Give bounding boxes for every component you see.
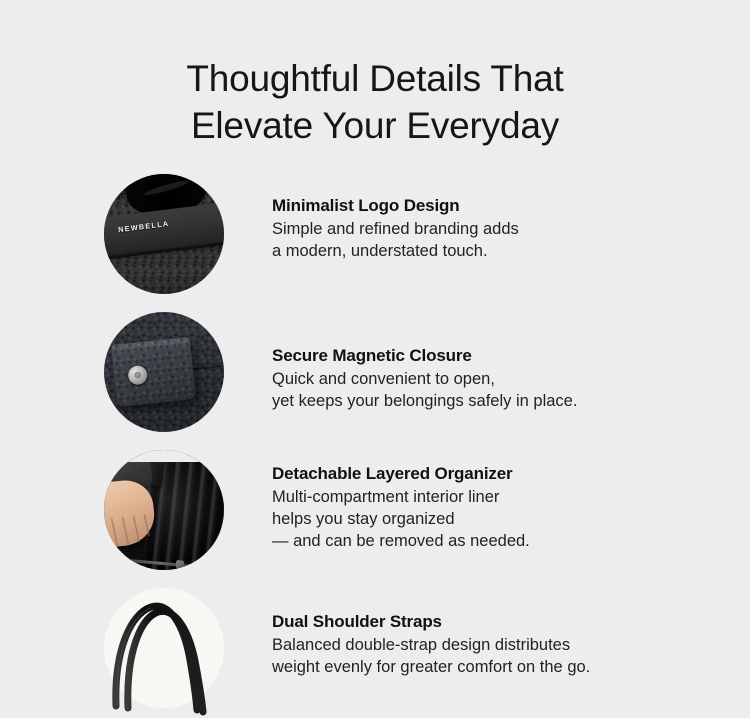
feature-thumbnail-straps-wrapper xyxy=(104,588,224,708)
feature-text-block: Detachable Layered Organizer Multi-compa… xyxy=(272,450,530,553)
page-title: Thoughtful Details That Elevate Your Eve… xyxy=(0,25,750,150)
feature-description-line: Multi-compartment interior liner xyxy=(272,487,530,509)
feature-thumbnail-logo-wrapper: NEWBELLA xyxy=(104,174,224,294)
feature-thumbnail-snap-wrapper xyxy=(104,312,224,432)
feature-title: Detachable Layered Organizer xyxy=(272,464,530,484)
feature-list: NEWBELLA Minimalist Logo Design Simple a… xyxy=(0,174,750,718)
feature-description: Simple and refined branding adds a moder… xyxy=(272,219,519,263)
feature-title: Dual Shoulder Straps xyxy=(272,612,590,632)
strap-inner-arc xyxy=(128,612,203,713)
feature-description-line: weight evenly for greater comfort on the… xyxy=(272,657,590,679)
feature-title: Minimalist Logo Design xyxy=(272,196,519,216)
feature-item-detachable-layered-organizer: Detachable Layered Organizer Multi-compa… xyxy=(0,450,750,580)
page-title-line-2: Elevate Your Everyday xyxy=(0,102,750,149)
feature-description: Balanced double-strap design distributes… xyxy=(272,635,590,679)
feature-description: Multi-compartment interior liner helps y… xyxy=(272,487,530,553)
image-top-crop xyxy=(104,450,224,462)
feature-thumbnail-organizer-wrapper xyxy=(104,450,224,570)
feature-title: Secure Magnetic Closure xyxy=(272,346,577,366)
feature-description-line: Quick and convenient to open, xyxy=(272,369,577,391)
feature-text-block: Dual Shoulder Straps Balanced double-str… xyxy=(272,588,590,679)
feature-description-line: Balanced double-strap design distributes xyxy=(272,635,590,657)
leather-logo-closeup-image: NEWBELLA xyxy=(104,174,224,294)
feature-item-secure-magnetic-closure: Secure Magnetic Closure Quick and conven… xyxy=(0,312,750,442)
dual-straps-closeup-image xyxy=(104,588,224,708)
flap-grain-texture xyxy=(111,337,196,407)
organizer-liner-closeup-image xyxy=(104,450,224,570)
page-title-line-1: Thoughtful Details That xyxy=(0,55,750,102)
feature-text-block: Minimalist Logo Design Simple and refine… xyxy=(272,174,519,263)
feature-description-line: Simple and refined branding adds xyxy=(272,219,519,241)
magnetic-snap-closeup-image xyxy=(104,312,224,432)
shoulder-straps-illustration xyxy=(104,588,224,708)
feature-description-line: a modern, understated touch. xyxy=(272,241,519,263)
feature-item-dual-shoulder-straps: Dual Shoulder Straps Balanced double-str… xyxy=(0,588,750,718)
feature-description-line: yet keeps your belongings safely in plac… xyxy=(272,391,577,413)
feature-text-block: Secure Magnetic Closure Quick and conven… xyxy=(272,312,577,413)
feature-item-minimalist-logo-design: NEWBELLA Minimalist Logo Design Simple a… xyxy=(0,174,750,304)
feature-description-line: — and can be removed as needed. xyxy=(272,531,530,553)
feature-description: Quick and convenient to open, yet keeps … xyxy=(272,369,577,413)
leather-flap xyxy=(111,337,196,407)
feature-description-line: helps you stay organized xyxy=(272,509,530,531)
